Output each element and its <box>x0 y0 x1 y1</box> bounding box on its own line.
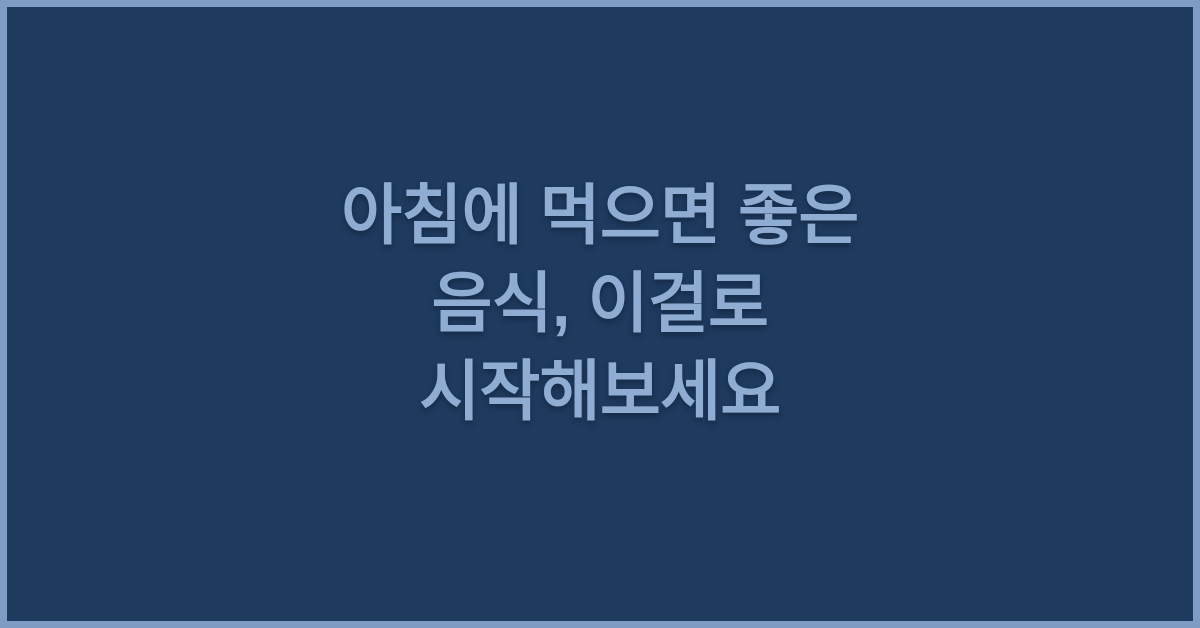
headline-line-3: 시작해보세요 <box>7 347 1193 435</box>
page-title: 아침에 먹으면 좋은 음식, 이걸로 시작해보세요 <box>7 171 1193 435</box>
headline-line-2: 음식, 이걸로 <box>7 259 1193 347</box>
headline-line-1: 아침에 먹으면 좋은 <box>7 171 1193 259</box>
thumbnail-card: 아침에 먹으면 좋은 음식, 이걸로 시작해보세요 <box>0 0 1200 628</box>
card-surface: 아침에 먹으면 좋은 음식, 이걸로 시작해보세요 <box>7 7 1193 621</box>
